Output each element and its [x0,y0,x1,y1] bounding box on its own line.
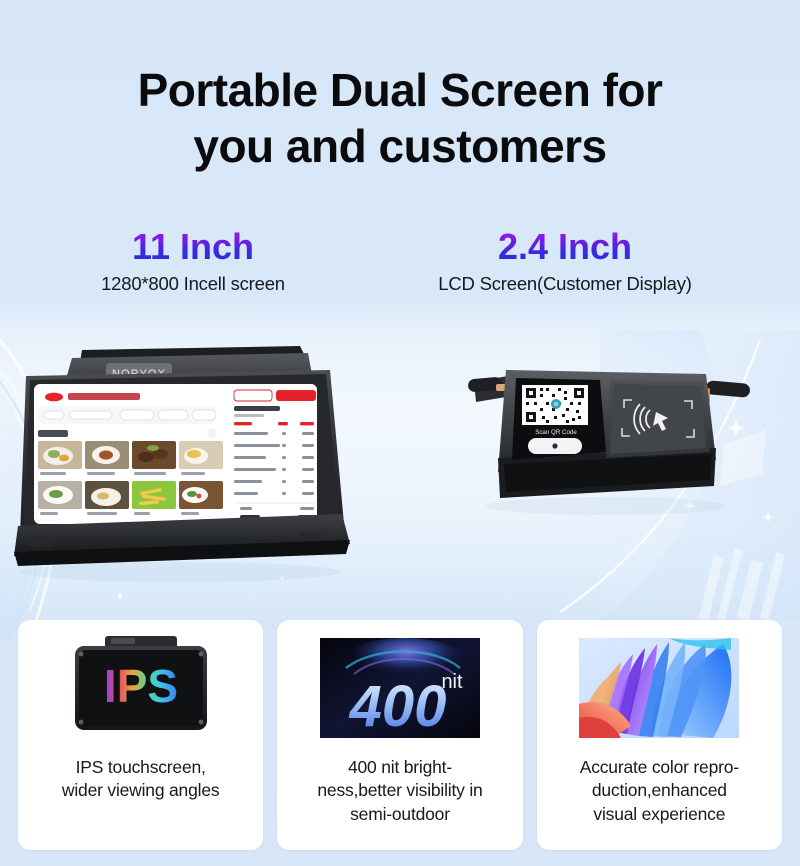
page-title: Portable Dual Screen for you and custome… [0,62,800,174]
feature-card-color: Accurate color repro- duction,enhanced v… [537,620,782,850]
headline-line-1: Portable Dual Screen for [138,64,663,116]
spec-main-screen: 11 Inch 1280*800 Incell screen [28,228,358,295]
customer-display-screen: Scan QR Code [512,378,606,460]
pos-order-panel [230,384,320,524]
scan-qr-caption: Scan QR Code [535,429,577,436]
brightness-unit-text: nit [441,671,463,693]
nfc-zone [606,380,710,458]
feature-card-ips: IPS IPS touchscreen, wider viewing angle… [18,620,263,850]
feature-card-brightness-caption: 400 nit bright- ness,better visibility i… [307,756,492,826]
ips-tablet-image: IPS [55,634,227,742]
spec-row: 11 Inch 1280*800 Incell screen 2.4 Inch … [0,228,800,295]
spec-customer-screen-title: 2.4 Inch [358,228,772,266]
front-device: NORYOX [14,346,350,582]
feature-card-color-caption: Accurate color repro- duction,enhanced v… [570,756,749,826]
headline-line-2: you and customers [193,120,606,172]
spec-customer-screen-subtitle: LCD Screen(Customer Display) [358,273,772,295]
promo-page: Portable Dual Screen for you and custome… [0,0,800,866]
color-gamut-image [573,634,745,742]
ips-logo-text: IPS [104,660,178,712]
spec-main-screen-subtitle: 1280*800 Incell screen [28,273,358,295]
hero-product-photos: NORYOX [0,340,800,610]
spec-customer-screen: 2.4 Inch LCD Screen(Customer Display) [358,228,772,295]
brightness-image: 400 nit [314,634,486,742]
brightness-value-text: 400 [349,674,447,739]
feature-card-row: IPS IPS touchscreen, wider viewing angle… [0,620,800,850]
feature-card-brightness: 400 nit 400 nit bright- ness,better visi… [277,620,522,850]
pos-filter-bar [38,406,216,424]
back-device: Scan QR Code [468,370,751,515]
feature-card-ips-caption: IPS touchscreen, wider viewing angles [52,756,229,803]
spec-main-screen-title: 11 Inch [28,228,358,266]
